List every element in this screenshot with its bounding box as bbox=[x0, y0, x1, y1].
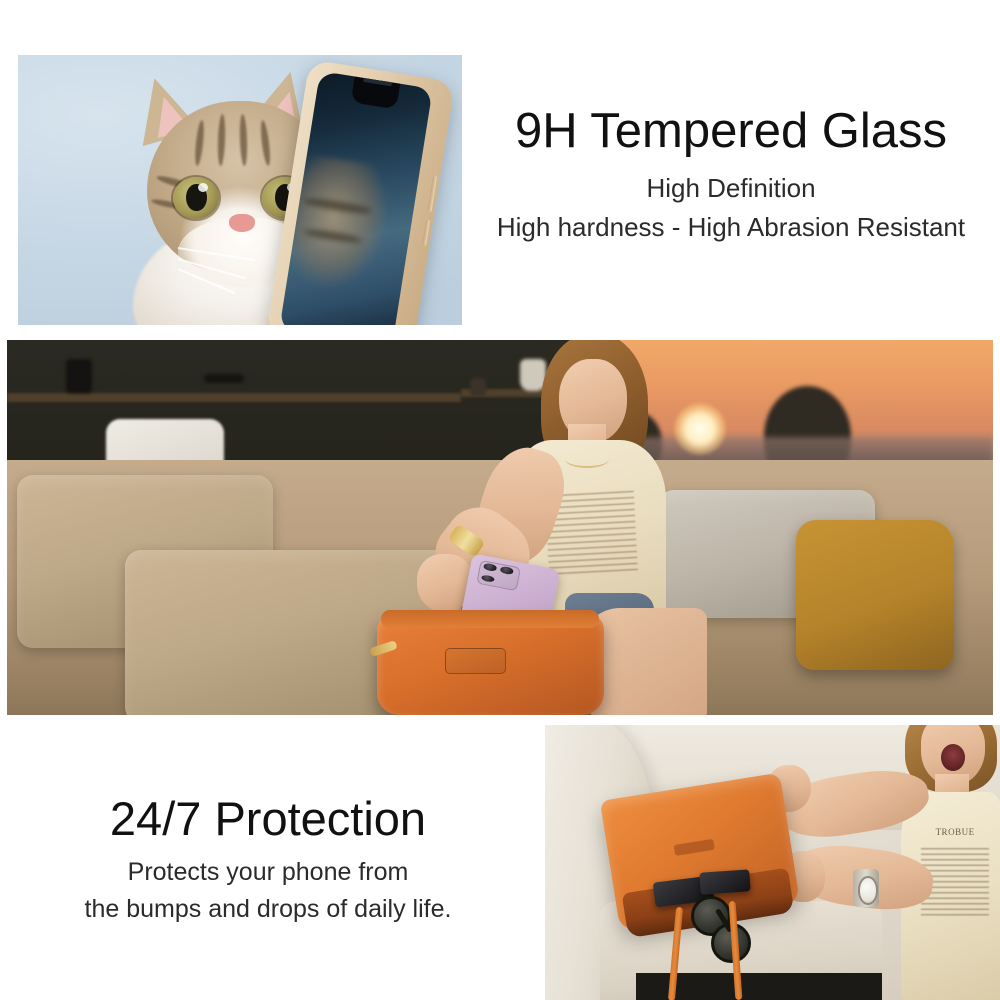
camera-lens bbox=[500, 566, 514, 575]
product-feature-collage: 9H Tempered Glass High Definition High h… bbox=[0, 0, 1000, 1000]
tank-top-brand-text: TROBUE bbox=[933, 827, 977, 837]
mustard-throw-pillow bbox=[796, 520, 954, 670]
protection-text-block: 24/7 Protection Protects your phone from… bbox=[18, 795, 518, 924]
handbag-opening bbox=[381, 610, 599, 628]
cat-phone-photo bbox=[18, 55, 462, 325]
shelf-object bbox=[204, 374, 244, 383]
protection-headline: 24/7 Protection bbox=[18, 795, 518, 844]
living-room-photo bbox=[7, 340, 993, 715]
shelf-board bbox=[7, 393, 461, 402]
open-mouth bbox=[941, 744, 965, 771]
shelf-object bbox=[66, 359, 92, 393]
handbag-brand-tag bbox=[445, 648, 506, 674]
protection-subtitle-2: the bumps and drops of daily life. bbox=[18, 895, 518, 924]
orange-handbag bbox=[377, 614, 604, 715]
watch-dial bbox=[858, 876, 879, 905]
kitten-eye-glint bbox=[198, 183, 208, 192]
tempered-glass-headline: 9H Tempered Glass bbox=[472, 106, 990, 157]
tempered-glass-text-block: 9H Tempered Glass High Definition High h… bbox=[472, 106, 990, 243]
tempered-glass-subtitle-1: High Definition bbox=[472, 173, 990, 204]
camera-lens bbox=[481, 574, 495, 583]
wristwatch bbox=[853, 869, 879, 908]
kitten-eye-left bbox=[173, 177, 219, 219]
bag-spill-photo: TROBUE bbox=[545, 725, 1000, 1000]
woman-figure-surprised: TROBUE bbox=[809, 725, 1000, 1000]
protection-subtitle-1: Protects your phone from bbox=[18, 858, 518, 887]
spilled-smartphone bbox=[699, 869, 750, 894]
tempered-glass-subtitle-2: High hardness - High Abrasion Resistant bbox=[472, 212, 990, 243]
camera-lens bbox=[484, 563, 498, 572]
